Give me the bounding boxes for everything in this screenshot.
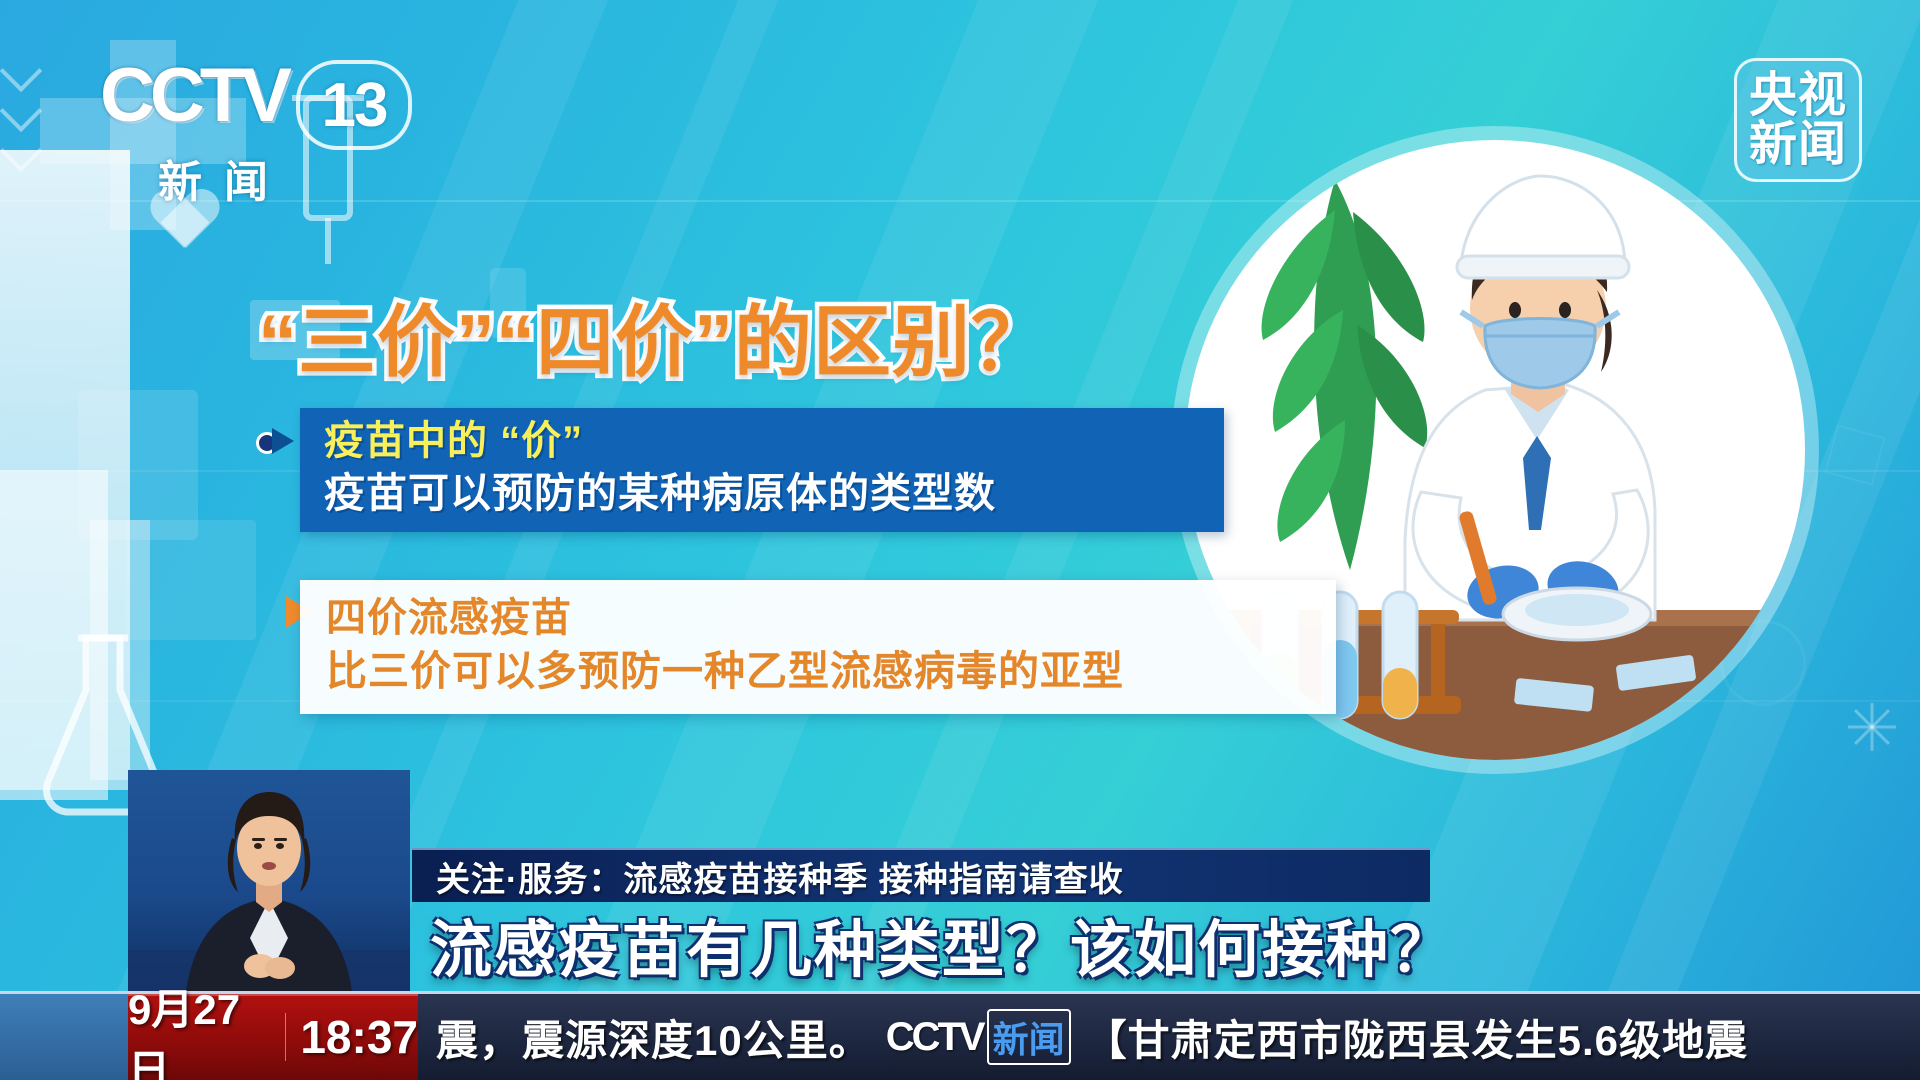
anchor-video-inset xyxy=(128,770,410,992)
ticker-time-value: 18:37 xyxy=(300,1010,418,1064)
broadcast-screen: CCTV 13 新闻 央视 新闻 xyxy=(0,0,1920,1080)
info-box-blue: 疫苗中的 “价” 疫苗可以预防的某种病原体的类型数 xyxy=(300,408,1224,532)
lower-third-topic-bar: 关注·服务：流感疫苗接种季 接种指南请查收 xyxy=(412,848,1430,902)
ticker-tail-text: 震，震源深度10公里。 xyxy=(436,1007,872,1068)
sparkle-icon xyxy=(1845,700,1899,754)
page-title: “三价”“四价”的区别？ xyxy=(258,280,1050,392)
ticker-date: 9月27日 xyxy=(128,976,271,1080)
info-blue-line-1: 疫苗中的 “价” xyxy=(324,416,1224,467)
ticker-source-brand: CCTV xyxy=(886,1015,983,1060)
blue-box-bullet-arrow-icon xyxy=(272,428,294,454)
ticker-left-spacer xyxy=(0,994,128,1080)
info-white-line-1: 四价流感疫苗 xyxy=(326,592,1336,644)
cctv-news-watermark: 央视 新闻 xyxy=(1734,58,1862,182)
watermark-line-1: 央视 xyxy=(1749,72,1847,119)
cctv-channel-number: 13 xyxy=(296,60,412,150)
ticker-scroll-area: 震，震源深度10公里。 CCTV 新闻 【甘肃定西市陇西县发生5.6级地震 xyxy=(418,994,1920,1080)
ticker-separator xyxy=(285,1013,287,1061)
cctv13-logo: CCTV 13 新闻 xyxy=(100,58,400,188)
ticker-source-logo: CCTV 新闻 xyxy=(886,1009,1071,1065)
ticker-breaking-text: 【甘肃定西市陇西县发生5.6级地震 xyxy=(1085,1007,1748,1068)
info-white-line-2: 比三价可以多预防一种乙型流感病毒的亚型 xyxy=(326,644,1336,698)
ticker-datetime: 9月27日 18:37 xyxy=(128,994,418,1080)
info-box-white: 四价流感疫苗 比三价可以多预防一种乙型流感病毒的亚型 xyxy=(300,580,1336,714)
news-ticker-bar: 9月27日 18:37 震，震源深度10公里。 CCTV 新闻 【甘肃定西市陇西… xyxy=(0,991,1920,1080)
lower-third-headline-text: 流感疫苗有几种类型？该如何接种？ xyxy=(430,899,1454,989)
watermark-line-2: 新闻 xyxy=(1749,121,1847,168)
cctv-logo-subtitle: 新闻 xyxy=(158,146,290,210)
ticker-source-tag: 新闻 xyxy=(987,1009,1071,1065)
lower-third-topic-text: 关注·服务：流感疫苗接种季 接种指南请查收 xyxy=(436,852,1124,901)
info-blue-line-2: 疫苗可以预防的某种病原体的类型数 xyxy=(324,467,1224,520)
news-anchor xyxy=(128,770,410,992)
lower-third-headline: 流感疫苗有几种类型？该如何接种？ xyxy=(412,902,1592,986)
